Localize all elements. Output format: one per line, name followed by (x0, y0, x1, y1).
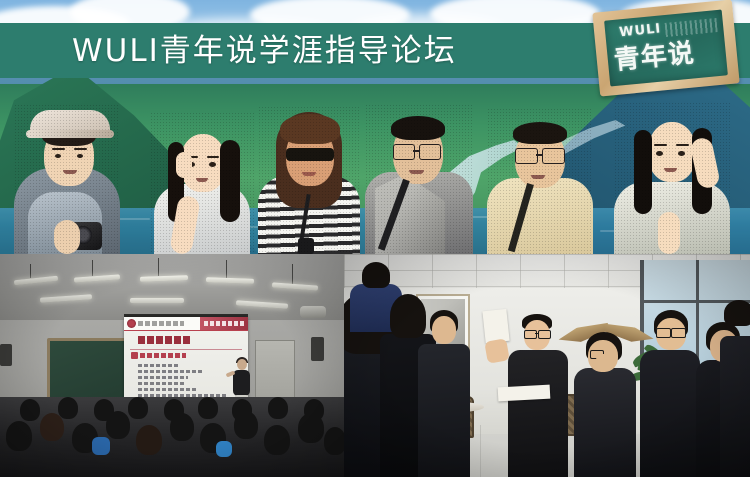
photo-strip (0, 254, 750, 477)
wuli-chalkboard-badge: WULI 青年说 (592, 0, 739, 97)
speaker-head (237, 359, 247, 370)
slide-header (124, 317, 248, 331)
student-hand-on-face (574, 332, 636, 477)
badge-chinese-text: 青年说 (612, 32, 696, 77)
held-document (482, 309, 509, 343)
student-right-edge (720, 300, 750, 477)
paper-stack (498, 385, 551, 402)
page-title: WULI青年说学涯指导论坛 (72, 29, 542, 73)
student-in-dark-jacket (418, 310, 470, 477)
university-logo-icon (127, 319, 136, 328)
person-5-man-short-hair-glasses (487, 108, 593, 254)
slide-title-text (138, 336, 192, 344)
group-discussion-photo (344, 254, 750, 477)
student-glasses-right (640, 310, 700, 477)
poster-image: WULI青年说学涯指导论坛 WULI 青年说 (0, 0, 750, 477)
person-1-man-with-hat (14, 104, 120, 254)
speaker-body (233, 370, 250, 396)
audience-seating (0, 397, 344, 477)
person-4-man-with-glasses-bag (365, 104, 473, 254)
wall-speaker-left (0, 344, 12, 366)
hero-banner: WULI青年说学涯指导论坛 WULI 青年说 (0, 0, 750, 254)
presenter-with-documents (504, 314, 570, 477)
slide-subtitle-text (140, 353, 186, 358)
slide-tag-banner (200, 317, 248, 330)
slide-logo-text (138, 321, 184, 326)
person-2-woman-hand-on-cheek (150, 112, 254, 254)
wall-speaker-right (311, 337, 324, 361)
slide-bullet-marker (131, 352, 138, 359)
person-3-woman-with-sunglasses (258, 106, 360, 254)
slide-divider (130, 349, 242, 350)
person-6-woman-hand-to-ear (614, 102, 730, 254)
lecture-hall-photo (0, 254, 344, 477)
chalkboard-surface: WULI 青年说 (604, 9, 728, 86)
